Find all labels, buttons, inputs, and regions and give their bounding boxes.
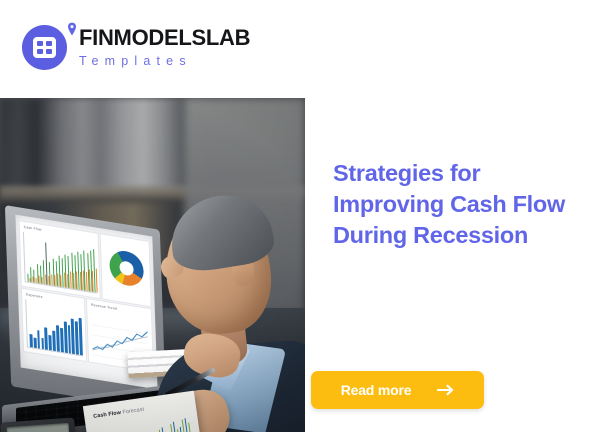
page-title: Strategies for Improving Cash Flow Durin… <box>333 158 573 252</box>
brand-wordmark: FINMODELSLAB Templates <box>79 27 250 68</box>
brand-subtitle: Templates <box>79 55 250 68</box>
brand-logo[interactable]: FINMODELSLAB Templates <box>22 25 250 70</box>
brand-name: FINMODELSLAB <box>79 27 250 49</box>
read-more-button[interactable]: Read more <box>311 371 484 409</box>
photo-vignette <box>0 98 305 432</box>
read-more-label: Read more <box>341 382 412 398</box>
promo-card: FINMODELSLAB Templates Cash Flow <box>0 0 600 432</box>
arrow-right-icon <box>437 384 454 396</box>
map-pin-icon <box>68 22 76 36</box>
hero-photo: Cash Flow <box>0 98 305 432</box>
grid-square-icon <box>22 25 67 70</box>
